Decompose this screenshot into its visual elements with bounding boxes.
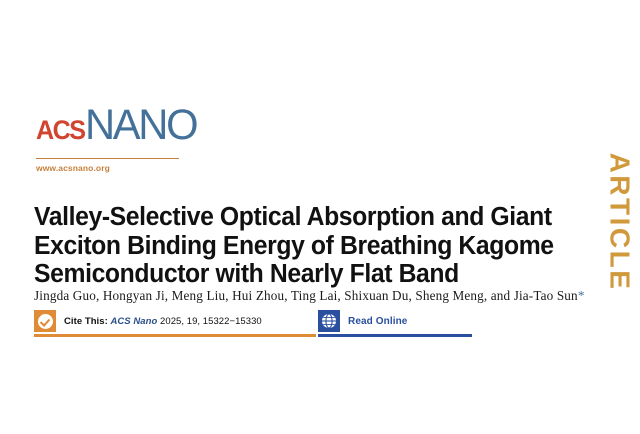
article-type-tab: ARTICLE	[606, 128, 632, 333]
article-type-tab-label: ARTICLE	[603, 153, 635, 292]
cite-badge-underline	[34, 334, 316, 337]
globe-icon	[318, 310, 340, 332]
read-online-badge[interactable]: Read Online	[318, 310, 407, 332]
read-online-label: Read Online	[348, 316, 407, 327]
read-badge-underline	[318, 334, 472, 337]
badge-row: Cite This: ACS Nano 2025, 19, 15322−1533…	[34, 310, 594, 340]
corresponding-author-marker: *	[578, 288, 585, 303]
journal-logo: ACSNANO	[36, 104, 200, 147]
cite-this-badge[interactable]: Cite This: ACS Nano 2025, 19, 15322−1533…	[34, 310, 262, 332]
article-authors-text: Jingda Guo, Hongyan Ji, Meng Liu, Hui Zh…	[34, 288, 578, 303]
cite-reference: 2025, 19, 15322−15330	[160, 316, 262, 327]
cite-journal-name: ACS Nano	[110, 316, 157, 327]
journal-website-url: www.acsnano.org	[36, 163, 110, 173]
cite-this-text: Cite This: ACS Nano 2025, 19, 15322−1533…	[64, 316, 262, 327]
cite-this-label: Cite This:	[64, 316, 108, 327]
journal-logo-acs: ACS	[36, 117, 85, 144]
check-circle-icon	[34, 310, 56, 332]
article-first-page: ACSNANO www.acsnano.org ARTICLE Valley-S…	[0, 0, 640, 434]
masthead-divider	[36, 158, 179, 159]
article-title: Valley-Selective Optical Absorption and …	[34, 203, 566, 288]
article-authors: Jingda Guo, Hongyan Ji, Meng Liu, Hui Zh…	[34, 288, 594, 304]
journal-logo-nano: NANO	[85, 104, 196, 147]
